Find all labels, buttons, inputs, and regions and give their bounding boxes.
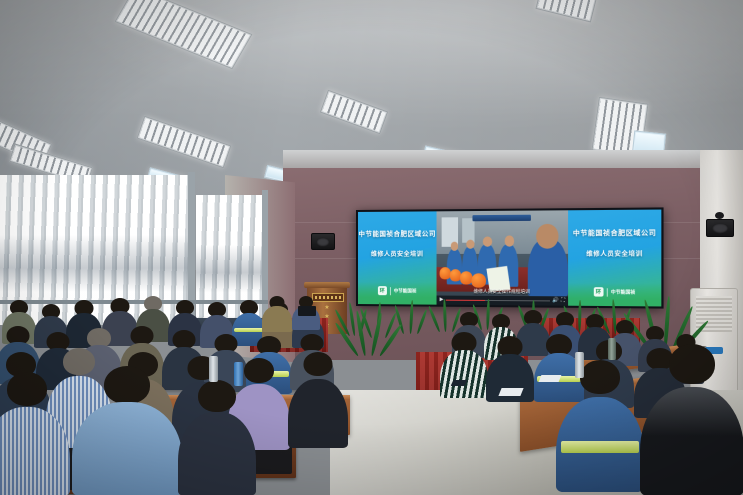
attendee bbox=[440, 332, 488, 398]
wall-speaker-right bbox=[706, 219, 734, 237]
video-person-head bbox=[466, 239, 474, 248]
thermos-cup bbox=[608, 338, 616, 360]
led-panel-left: 中节能国祯合肥区域公司 维修人员安全培训 环 中节能国祯 bbox=[358, 211, 437, 304]
wall-upper-trim bbox=[283, 150, 743, 168]
logo-divider bbox=[390, 287, 391, 295]
podium-top bbox=[304, 282, 350, 288]
video-person-head bbox=[504, 235, 514, 246]
conference-room-photo: 中节能国祯合肥区域公司 维修人员安全培训 环 中节能国祯 bbox=[0, 0, 743, 495]
plant-left-of-podium bbox=[350, 300, 400, 360]
attendee-foreground-blue bbox=[72, 366, 182, 495]
attendee bbox=[288, 352, 348, 448]
led-left-subhead: 维修人员安全培训 bbox=[371, 252, 423, 259]
attendee-foreground-dark bbox=[178, 380, 256, 495]
attendee-foreground-work-uniform bbox=[556, 360, 644, 492]
notepad bbox=[539, 375, 562, 382]
video-banner bbox=[473, 214, 531, 221]
video-person-head bbox=[536, 224, 559, 249]
wall-speaker-left bbox=[311, 233, 335, 250]
attendee-foreground-hoodie bbox=[640, 344, 743, 495]
thermos-cup bbox=[234, 362, 243, 386]
brand-mark-icon: 环 bbox=[378, 286, 387, 295]
led-video-wall[interactable]: 中节能国祯合肥区域公司 维修人员安全培训 环 中节能国祯 bbox=[356, 207, 664, 308]
presenter-at-head-table bbox=[262, 296, 292, 332]
led-left-headline: 中节能国祯合肥区域公司 bbox=[358, 231, 436, 239]
laptop[interactable] bbox=[298, 306, 316, 316]
notepad bbox=[498, 388, 523, 396]
thermos-cup bbox=[575, 352, 584, 378]
led-right-headline: 中节能国祯合肥区域公司 bbox=[573, 230, 657, 238]
thermos-cup bbox=[209, 356, 218, 382]
video-person-head bbox=[451, 242, 459, 250]
speaker-cone-icon bbox=[712, 223, 728, 233]
dome-camera-icon bbox=[715, 212, 724, 219]
smartphone[interactable] bbox=[451, 380, 468, 386]
podium-emblem-icon: ★ bbox=[324, 305, 329, 311]
led-panel-center-video[interactable]: 维修人员安全操作规程培训 ▶ 🔊 ⛶ bbox=[437, 210, 569, 305]
led-right-subhead: 维修人员安全培训 bbox=[586, 252, 642, 259]
led-left-logo-text: 中节能国祯 bbox=[394, 288, 417, 294]
attendee-foreground-striped bbox=[0, 372, 70, 495]
speaker-cone-icon bbox=[316, 237, 329, 246]
safety-helmet-icon bbox=[471, 273, 485, 287]
